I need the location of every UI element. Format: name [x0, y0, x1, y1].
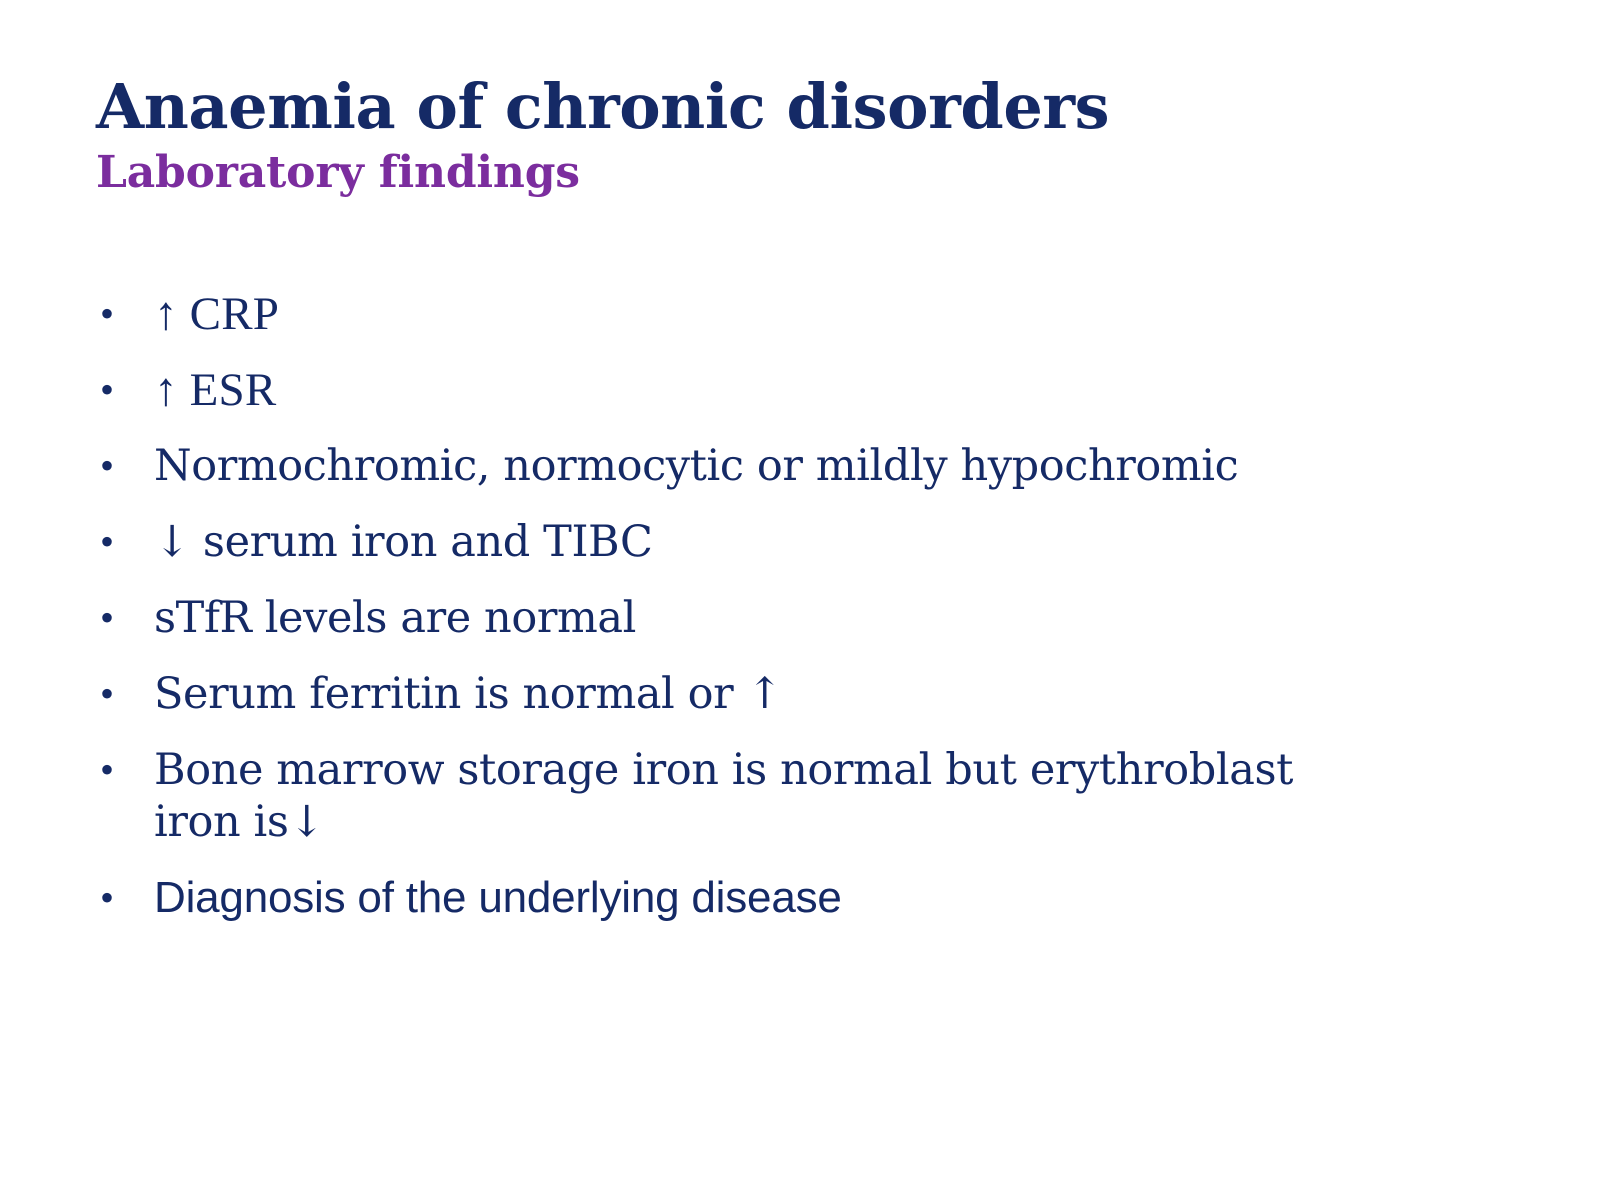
list-item-crp: • ↑ CRP	[96, 288, 1496, 340]
title-block: Anaemia of chronic disorders Laboratory …	[96, 74, 1516, 199]
list-item-bone-marrow-iron: • Bone marrow storage iron is normal but…	[96, 744, 1496, 848]
list-item-esr: • ↑ ESR	[96, 364, 1496, 416]
list-item-normochromic: • Normochromic, normocytic or mildly hyp…	[96, 440, 1496, 492]
list-item-label: sTfR levels are normal	[154, 592, 1496, 644]
list-item-label: Diagnosis of the underlying disease	[154, 872, 1496, 924]
laboratory-findings-list: • ↑ CRP • ↑ ESR • Normochromic, normocyt…	[96, 288, 1496, 924]
page-subtitle: Laboratory findings	[96, 147, 1516, 199]
list-item-serum-ferritin: • Serum ferritin is normal or ↑	[96, 668, 1496, 720]
list-item-label: ↑ ESR	[154, 364, 1496, 416]
bullet-dot-icon: •	[100, 668, 122, 720]
list-item-label: ↑ CRP	[154, 288, 1496, 340]
bullet-dot-icon: •	[100, 440, 122, 492]
page-title: Anaemia of chronic disorders	[96, 74, 1516, 141]
list-item-diagnosis-underlying-disease: • Diagnosis of the underlying disease	[96, 872, 1496, 924]
bullet-dot-icon: •	[100, 516, 122, 568]
bullet-dot-icon: •	[100, 364, 122, 416]
list-item-stfr: • sTfR levels are normal	[96, 592, 1496, 644]
list-item-serum-iron-tibc: • ↓ serum iron and TIBC	[96, 516, 1496, 568]
list-item-label-line-2: iron is↓	[154, 796, 1496, 848]
bullet-dot-icon: •	[100, 744, 122, 796]
bullet-dot-icon: •	[100, 592, 122, 644]
bullet-dot-icon: •	[100, 872, 122, 924]
slide-canvas: Anaemia of chronic disorders Laboratory …	[0, 0, 1600, 1200]
bullet-dot-icon: •	[100, 288, 122, 340]
list-item-label: Normochromic, normocytic or mildly hypoc…	[154, 440, 1496, 492]
list-item-label-line-1: Bone marrow storage iron is normal but e…	[154, 744, 1496, 796]
list-item-label: ↓ serum iron and TIBC	[154, 516, 1496, 568]
list-item-label: Serum ferritin is normal or ↑	[154, 668, 1496, 720]
